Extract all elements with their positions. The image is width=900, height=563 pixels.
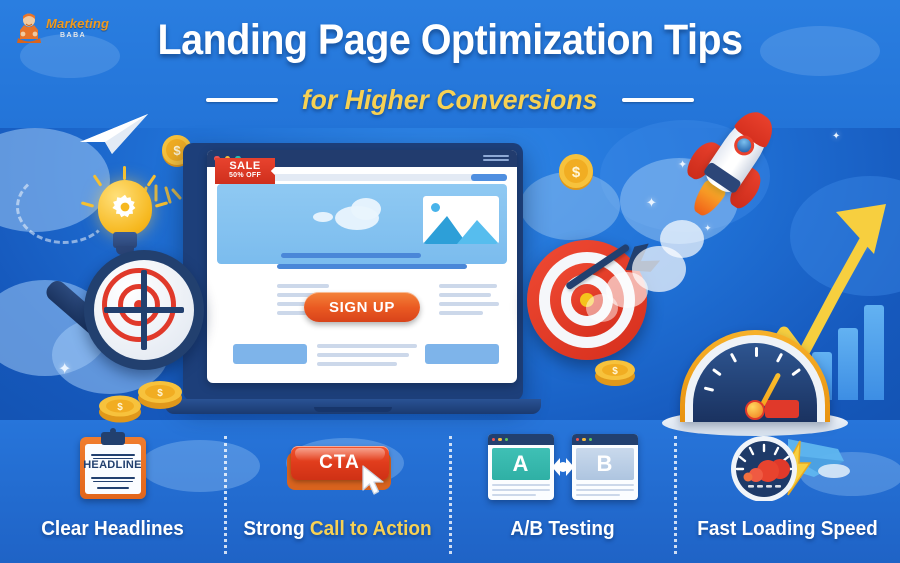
clipboard-headline-text: HEADLINE bbox=[83, 459, 142, 471]
sparkle-icon: ✦ bbox=[58, 362, 71, 378]
hero-banner bbox=[217, 184, 507, 264]
infographic-poster: ✦ ✦ ✦ ✦ ✦ ✦ Marketing BABA Landing Page … bbox=[0, 0, 900, 563]
paper-plane-icon bbox=[78, 112, 150, 158]
image-placeholder-icon bbox=[423, 196, 499, 244]
magnifier-target-icon bbox=[84, 250, 204, 370]
cta-button-cursor-icon: CTA bbox=[285, 444, 391, 492]
speedometer-bolt-icon bbox=[726, 435, 850, 501]
variant-a-window[interactable]: A bbox=[488, 434, 554, 500]
menu-icon[interactable] bbox=[483, 155, 509, 163]
clipboard-headline-icon: HEADLINE bbox=[80, 437, 146, 499]
feature-fast-loading[interactable]: Fast Loading Speed bbox=[675, 420, 900, 563]
sparkle-icon: ✦ bbox=[832, 132, 840, 142]
svg-text:$: $ bbox=[612, 366, 618, 377]
sparkle-icon: ✦ bbox=[704, 224, 712, 233]
variant-a-letter: A bbox=[513, 451, 529, 477]
cursor-icon bbox=[361, 464, 387, 496]
laptop-mockup: SALE 50% OFF SIGN UP bbox=[183, 143, 523, 401]
page-subtitle: for Higher Conversions bbox=[302, 84, 598, 116]
feature-label-part1: Strong bbox=[243, 518, 310, 540]
gear-icon bbox=[112, 194, 138, 220]
sparkle-icon: ✦ bbox=[646, 196, 657, 209]
svg-text:$: $ bbox=[572, 164, 581, 181]
feature-row: HEADLINE Clear Headlines CTA bbox=[0, 420, 900, 563]
variant-b-window[interactable]: B bbox=[572, 434, 638, 500]
svg-text:$: $ bbox=[173, 143, 181, 158]
feature-strong-cta[interactable]: CTA Strong Call to Action bbox=[225, 420, 450, 563]
ab-test-windows-icon: A B bbox=[488, 434, 638, 502]
speedometer-icon bbox=[680, 330, 830, 422]
go-button[interactable] bbox=[471, 174, 507, 181]
dartboard-arrow-icon bbox=[527, 240, 647, 360]
split-arrow-icon bbox=[550, 456, 576, 478]
gold-coin-icon: $ bbox=[556, 152, 596, 192]
gold-coin-icon: $ bbox=[588, 352, 642, 390]
page-title: Landing Page Optimization Tips bbox=[36, 16, 864, 65]
sale-badge: SALE 50% OFF bbox=[215, 158, 275, 184]
svg-text:$: $ bbox=[117, 402, 123, 413]
browser-window[interactable]: SALE 50% OFF SIGN UP bbox=[207, 150, 517, 383]
feature-clear-headlines[interactable]: HEADLINE Clear Headlines bbox=[0, 420, 225, 563]
feature-label-part2: Call to Action bbox=[310, 518, 432, 540]
feature-label: A/B Testing bbox=[456, 518, 670, 541]
rule-right bbox=[622, 98, 694, 102]
feature-label: Fast Loading Speed bbox=[681, 518, 895, 541]
signup-button[interactable]: SIGN UP bbox=[304, 292, 420, 322]
variant-b-letter: B bbox=[597, 451, 613, 477]
feature-ab-testing[interactable]: A B bbox=[450, 420, 675, 563]
rule-left bbox=[206, 98, 278, 102]
feature-label: Clear Headlines bbox=[6, 518, 220, 541]
svg-text:$: $ bbox=[157, 388, 163, 399]
feature-label: Strong Call to Action bbox=[231, 518, 445, 541]
